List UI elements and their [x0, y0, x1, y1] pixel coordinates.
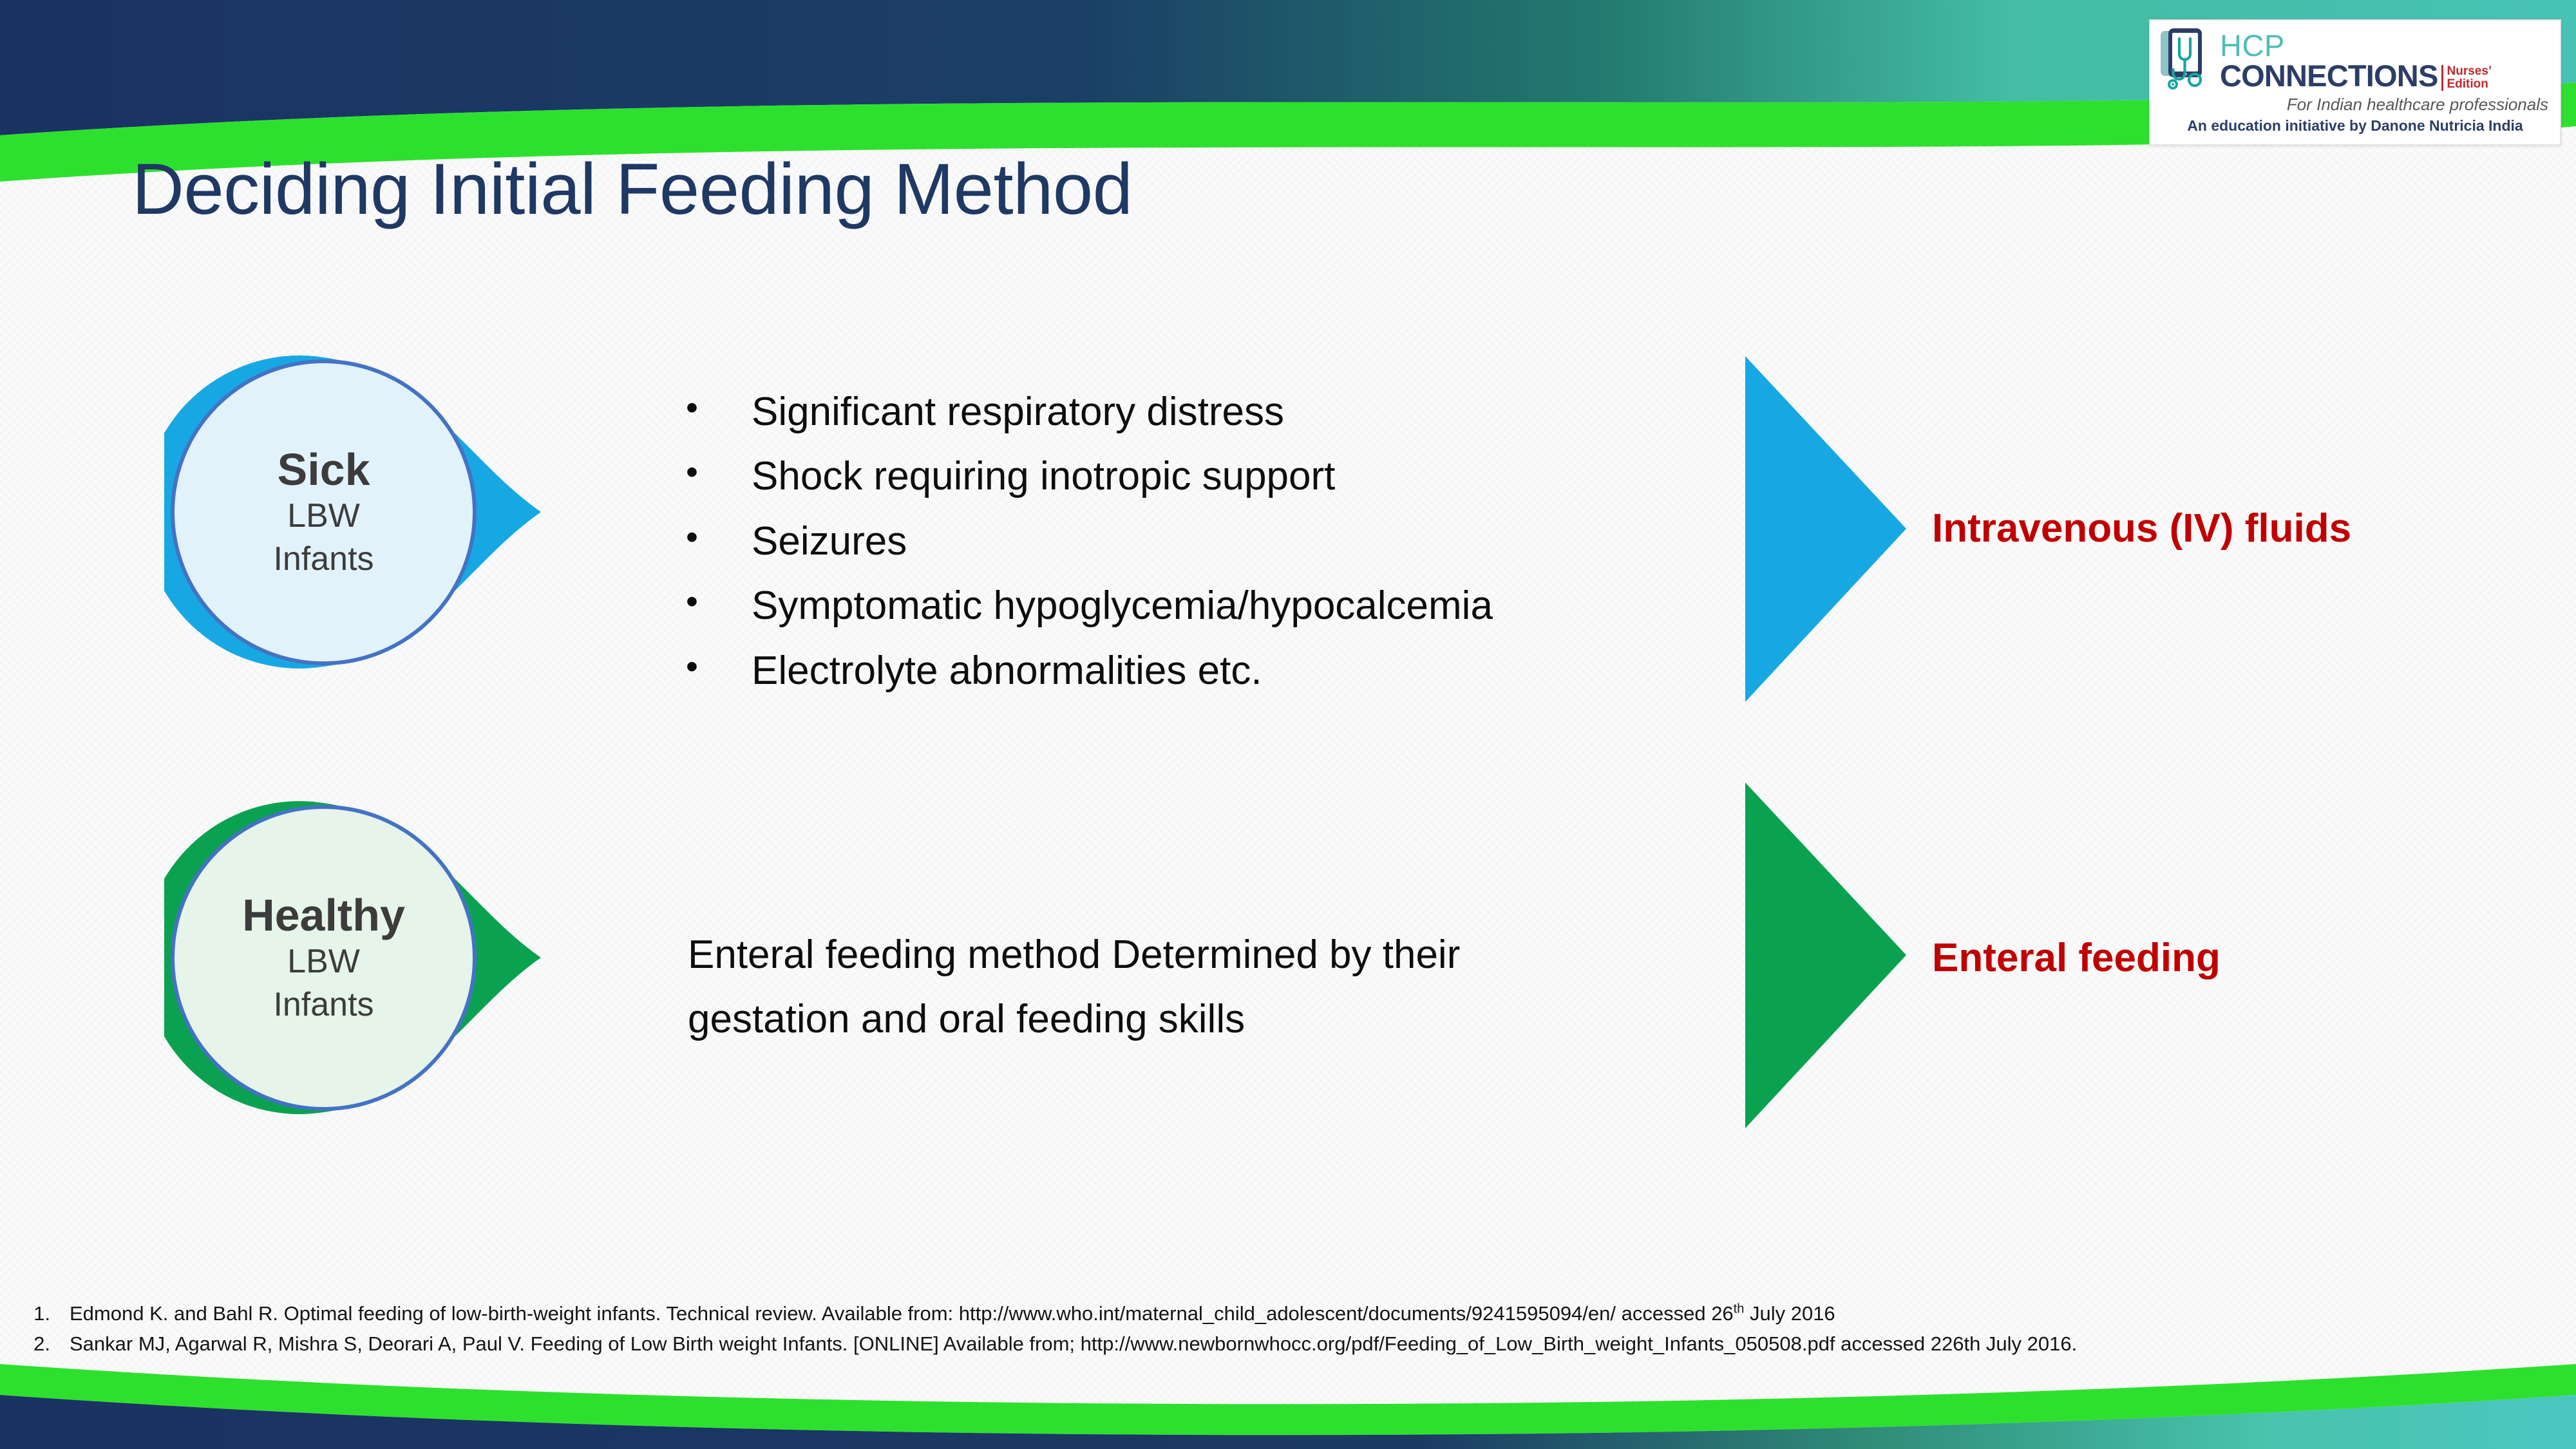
logo-hcp-text: HCP: [2220, 30, 2551, 61]
slide-canvas: Deciding Initial Feeding Method HCP: [0, 0, 2576, 1449]
outcome-label-iv-fluids: Intravenous (IV) fluids: [1932, 506, 2351, 551]
list-item: Seizures: [679, 509, 1742, 574]
sick-criteria-list: Significant respiratory distress Shock r…: [679, 380, 1742, 703]
healthy-line-2: LBW: [287, 940, 360, 983]
sick-line-2: LBW: [287, 495, 360, 538]
outcome-label-enteral-feeding: Enteral feeding: [1932, 935, 2221, 981]
sick-heading: Sick: [278, 444, 370, 495]
list-item: Significant respiratory distress: [679, 380, 1742, 444]
tablet-stethoscope-icon: [2159, 27, 2215, 94]
sick-line-3: Infants: [273, 538, 374, 581]
logo-wordmark: HCP CONNECTIONS Nurses’ Edition: [2220, 30, 2551, 91]
logo-initiative-line: An education initiative by Danone Nutric…: [2159, 117, 2551, 135]
healthy-circle: Healthy LBW Infants: [171, 805, 477, 1111]
sick-node-group: Sick LBW Infants: [164, 351, 576, 673]
reference-1-tail: July 2016: [1744, 1302, 1835, 1325]
list-item: Electrolyte abnormalities etc.: [679, 639, 1742, 703]
healthy-to-enteral-arrow: [1745, 782, 1913, 1128]
logo-edition-line1: Nurses’: [2447, 64, 2492, 78]
list-item: Symptomatic hypoglycemia/hypocalcemia: [679, 574, 1742, 638]
logo-edition-line2: Edition: [2447, 77, 2488, 91]
sick-circle: Sick LBW Infants: [171, 359, 477, 665]
healthy-node-group: Healthy LBW Infants: [164, 797, 576, 1119]
page-title: Deciding Initial Feeding Method: [132, 151, 1132, 227]
healthy-heading: Healthy: [242, 890, 405, 940]
logo-main-row: HCP CONNECTIONS Nurses’ Edition: [2159, 27, 2551, 94]
list-item: Shock requiring inotropic support: [679, 444, 1742, 509]
healthy-note-text: Enteral feeding method Determined by the…: [688, 923, 1609, 1052]
reference-item-2: Sankar MJ, Agarwal R, Mishra S, Deorari …: [12, 1329, 2562, 1359]
logo-connections-row: CONNECTIONS Nurses’ Edition: [2220, 61, 2551, 91]
sick-to-iv-arrow: [1745, 356, 1913, 702]
logo-connections-text: CONNECTIONS: [2220, 61, 2438, 91]
reference-item-1: Edmond K. and Bahl R. Optimal feeding of…: [12, 1298, 2562, 1329]
reference-1-superscript: th: [1734, 1302, 1745, 1316]
references-list: Edmond K. and Bahl R. Optimal feeding of…: [12, 1298, 2562, 1359]
healthy-line-3: Infants: [273, 983, 374, 1027]
reference-1-text: Edmond K. and Bahl R. Optimal feeding of…: [70, 1302, 1734, 1325]
logo-edition-badge: Nurses’ Edition: [2441, 65, 2492, 91]
hcp-connections-logo: HCP CONNECTIONS Nurses’ Edition For Indi…: [2149, 19, 2561, 146]
logo-tagline: For Indian healthcare professionals: [2159, 95, 2551, 115]
